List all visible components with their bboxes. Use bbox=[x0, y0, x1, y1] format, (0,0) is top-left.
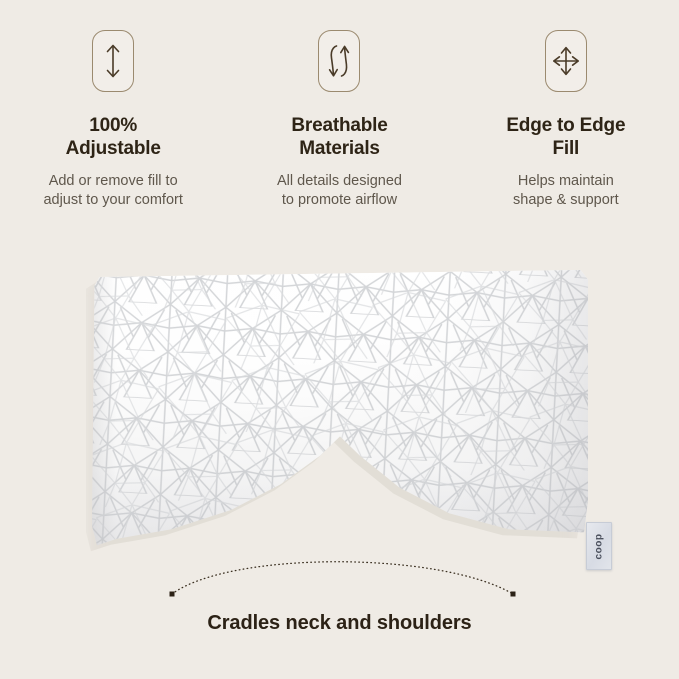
feature-title-line2: Materials bbox=[299, 138, 380, 159]
feature-subtext-line1: Add or remove fill to bbox=[49, 173, 178, 189]
feature-subtext: Add or remove fill to adjust to your com… bbox=[43, 172, 182, 210]
feature-title-line2: Adjustable bbox=[66, 138, 161, 159]
feature-title-line1: Edge to Edge bbox=[506, 115, 625, 136]
feature-adjustable: 100% Adjustable Add or remove fill to ad… bbox=[0, 0, 226, 245]
feature-subtext-line1: All details designed bbox=[277, 173, 402, 189]
feature-subtext-line1: Helps maintain bbox=[518, 173, 614, 189]
feature-row: 100% Adjustable Add or remove fill to ad… bbox=[0, 0, 679, 245]
vertical-double-arrow-icon bbox=[92, 30, 134, 92]
callout-endpoint-left bbox=[170, 592, 175, 597]
feature-title: Edge to Edge Fill bbox=[506, 114, 625, 160]
feature-subtext-line2: shape & support bbox=[513, 192, 619, 208]
feature-subtext-line2: adjust to your comfort bbox=[43, 192, 182, 208]
callout-dotted-line bbox=[172, 562, 513, 594]
callout-endpoint-right bbox=[511, 592, 516, 597]
pillow-body bbox=[92, 270, 588, 590]
feature-breathable: Breathable Materials All details designe… bbox=[226, 0, 452, 245]
feature-subtext-line2: to promote airflow bbox=[282, 192, 397, 208]
feature-title: 100% Adjustable bbox=[66, 114, 161, 160]
callout-arc bbox=[0, 555, 679, 615]
feature-title-line1: Breathable bbox=[291, 115, 387, 136]
pillow-graphic: coop bbox=[92, 270, 588, 590]
feature-subtext: All details designed to promote airflow bbox=[277, 172, 402, 210]
quilt-pattern bbox=[92, 270, 588, 590]
four-way-arrow-icon bbox=[545, 30, 587, 92]
callout-caption: Cradles neck and shoulders bbox=[0, 612, 679, 635]
feature-edge-to-edge: Edge to Edge Fill Helps maintain shape &… bbox=[453, 0, 679, 245]
feature-title: Breathable Materials bbox=[291, 114, 387, 160]
feature-subtext: Helps maintain shape & support bbox=[513, 172, 619, 210]
airflow-curved-arrows-icon bbox=[318, 30, 360, 92]
feature-title-line1: 100% bbox=[89, 115, 137, 136]
feature-title-line2: Fill bbox=[552, 138, 579, 159]
product-feature-panel: 100% Adjustable Add or remove fill to ad… bbox=[0, 0, 679, 679]
